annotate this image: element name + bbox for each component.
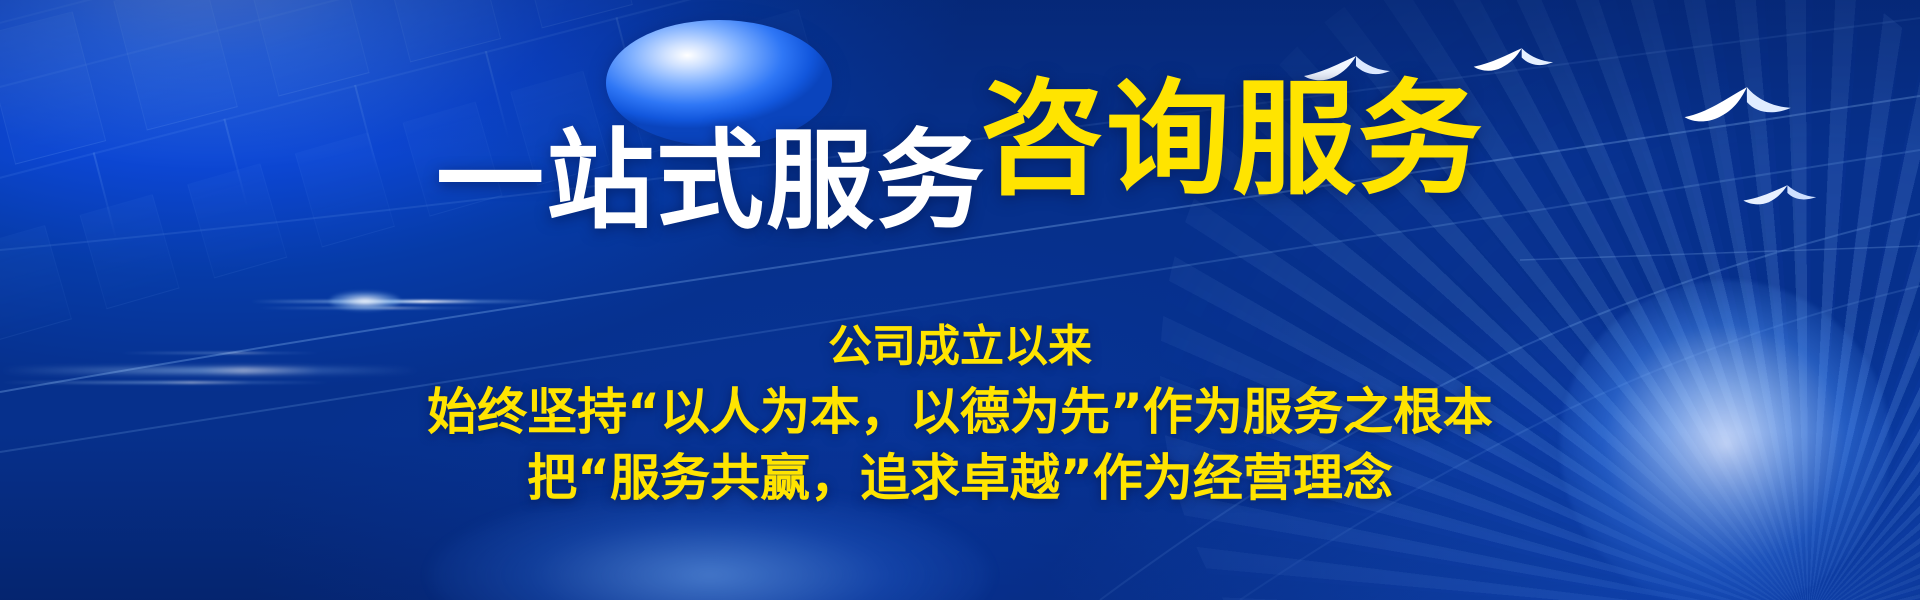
headline-accent-text: 咨询服务: [980, 68, 1484, 212]
headline: 一站式服务咨询服务: [0, 78, 1920, 202]
promo-banner: 一站式服务咨询服务 公司成立以来 始终坚持“以人为本，以德为先”作为服务之根本 …: [0, 0, 1920, 600]
body-copy-line: 把“服务共赢，追求卓越”作为经营理念: [0, 447, 1920, 509]
body-copy-line: 公司成立以来: [0, 320, 1920, 375]
body-copy-line: 始终坚持“以人为本，以德为先”作为服务之根本: [0, 381, 1920, 443]
headline-primary-text: 一站式服务: [436, 119, 986, 244]
body-copy: 公司成立以来 始终坚持“以人为本，以德为先”作为服务之根本 把“服务共赢，追求卓…: [0, 320, 1920, 509]
